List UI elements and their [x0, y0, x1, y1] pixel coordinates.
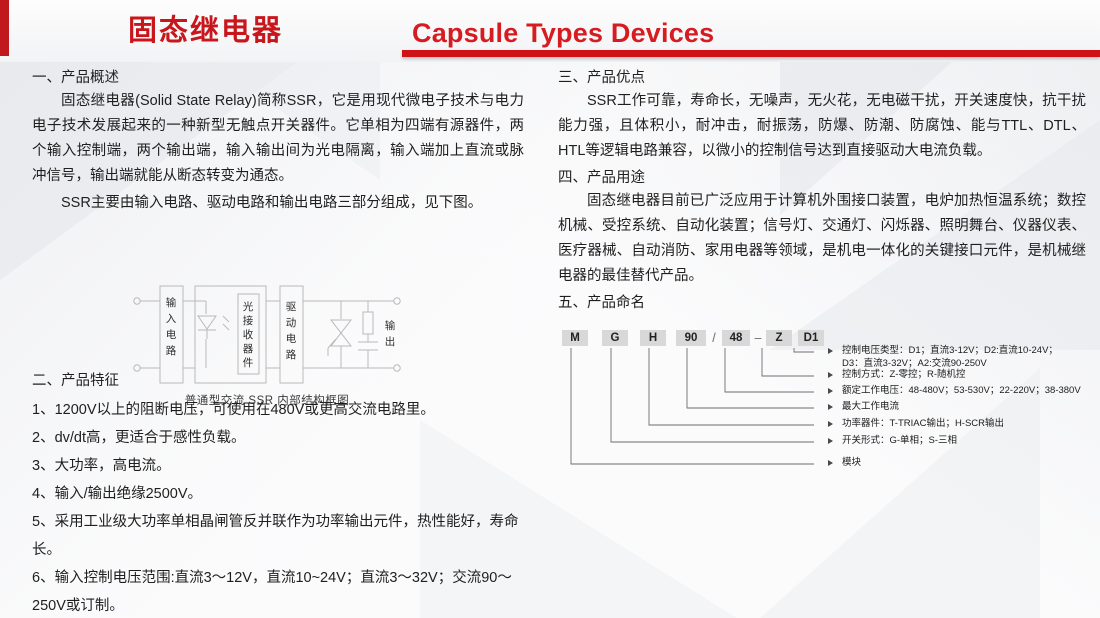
- section2-heading: 二、产品特征: [32, 370, 532, 392]
- model-code-row: M G H 90 / 48 – Z D1: [552, 330, 822, 348]
- svg-text:件: 件: [243, 357, 254, 369]
- section1-paragraph-2: SSR主要由输入电路、驱动电路和输出电路三部分组成，见下图。: [32, 191, 524, 216]
- code-cell-rated-voltage: 48: [722, 330, 750, 346]
- legend-arrow-icon: [828, 372, 833, 378]
- legend-arrow-icon: [828, 388, 833, 394]
- legend-power-device: 功率器件：T-TRIAC输出；H-SCR输出: [842, 418, 1004, 431]
- svg-text:器: 器: [243, 343, 254, 355]
- code-cell-control-mode: Z: [766, 330, 792, 346]
- leader-lines: [548, 330, 1100, 560]
- diagram-label-input: 输: [166, 296, 177, 309]
- section3-paragraph-1: SSR工作可靠，寿命长，无噪声，无火花，无电磁干扰，开关速度快，抗干扰能力强，且…: [558, 89, 1086, 164]
- svg-text:收: 收: [243, 328, 254, 341]
- legend-rated-voltage: 额定工作电压：48-480V；53-530V；22-220V；38-380V: [842, 385, 1081, 398]
- code-separator-slash: /: [708, 330, 720, 346]
- section-product-advantages: 三、产品优点 SSR工作可靠，寿命长，无噪声，无火花，无电磁干扰，开关速度快，抗…: [558, 67, 1086, 314]
- header-accent-bar: [0, 0, 9, 56]
- legend-arrow-icon: [828, 438, 833, 444]
- page-title-chinese: 固态继电器: [128, 10, 283, 52]
- svg-text:电: 电: [286, 332, 297, 345]
- diagram-label-opto: 光: [243, 300, 254, 313]
- code-separator-dash: –: [752, 330, 764, 346]
- legend-control-mode: 控制方式：Z-零控；R-随机控: [842, 369, 966, 382]
- section3-heading: 三、产品优点: [558, 67, 1086, 89]
- code-cell-module: M: [562, 330, 588, 346]
- legend-max-current: 最大工作电流: [842, 401, 899, 414]
- code-cell-switch-form: G: [602, 330, 628, 346]
- legend-arrow-icon: [828, 404, 833, 410]
- feature-item: 1、1200V以上的阻断电压，可使用在480V或更高交流电路里。: [32, 396, 532, 424]
- feature-item: 2、dv/dt高，更适合于感性负载。: [32, 424, 532, 452]
- code-cell-max-current: 90: [676, 330, 706, 346]
- section4-paragraph-1: 固态继电器目前已广泛应用于计算机外围接口装置，电炉加热恒温系统；数控机械、受控系…: [558, 189, 1086, 289]
- legend-control-voltage-line1: 控制电压类型：D1；直流3-12V；D2:直流10-24V；: [842, 345, 1058, 358]
- svg-text:接: 接: [243, 314, 254, 327]
- feature-item: 4、输入/输出绝缘2500V。: [32, 480, 532, 508]
- diagram-label-output: 输: [385, 319, 396, 332]
- section-product-overview: 一、产品概述 固态继电器(Solid State Relay)简称SSR，它是用…: [32, 67, 524, 216]
- legend-arrow-icon: [828, 460, 833, 466]
- legend-module: 模块: [842, 457, 861, 470]
- svg-text:路: 路: [286, 348, 297, 361]
- header-underline: [402, 50, 1100, 57]
- section-product-features: 二、产品特征 1、1200V以上的阻断电压，可使用在480V或更高交流电路里。 …: [32, 370, 532, 618]
- page-header: 固态继电器 Capsule Types Devices: [0, 0, 1100, 62]
- section4-heading: 四、产品用途: [558, 167, 1086, 189]
- section1-heading: 一、产品概述: [32, 67, 524, 89]
- svg-text:入: 入: [166, 313, 177, 325]
- legend-arrow-icon: [828, 421, 833, 427]
- feature-item: 6、输入控制电压范围:直流3～12V，直流10~24V；直流3～32V；交流90…: [32, 564, 532, 618]
- section1-paragraph-1: 固态继电器(Solid State Relay)简称SSR，它是用现代微电子技术…: [32, 89, 524, 189]
- svg-text:出: 出: [385, 335, 396, 348]
- legend-switch-form: 开关形式：G-单相；S-三相: [842, 435, 957, 448]
- model-naming-diagram: M G H 90 / 48 – Z D1 控制电压类型：D1；直流3-12V；D…: [548, 330, 1100, 560]
- page-title-english: Capsule Types Devices: [412, 16, 714, 50]
- slide-page: 固态继电器 Capsule Types Devices 一、产品概述 固态继电器…: [0, 0, 1100, 618]
- code-cell-power-device: H: [640, 330, 666, 346]
- code-cell-control-voltage: D1: [798, 330, 824, 346]
- svg-text:动: 动: [286, 317, 297, 329]
- feature-item: 3、大功率，高电流。: [32, 452, 532, 480]
- diagram-label-drive: 驱: [286, 301, 297, 313]
- section5-heading: 五、产品命名: [558, 292, 1086, 314]
- svg-text:路: 路: [166, 344, 177, 357]
- feature-item: 5、采用工业级大功率单相晶闸管反并联作为功率输出元件，热性能好，寿命长。: [32, 508, 532, 564]
- legend-arrow-icon: [828, 348, 833, 354]
- svg-text:电: 电: [166, 328, 177, 341]
